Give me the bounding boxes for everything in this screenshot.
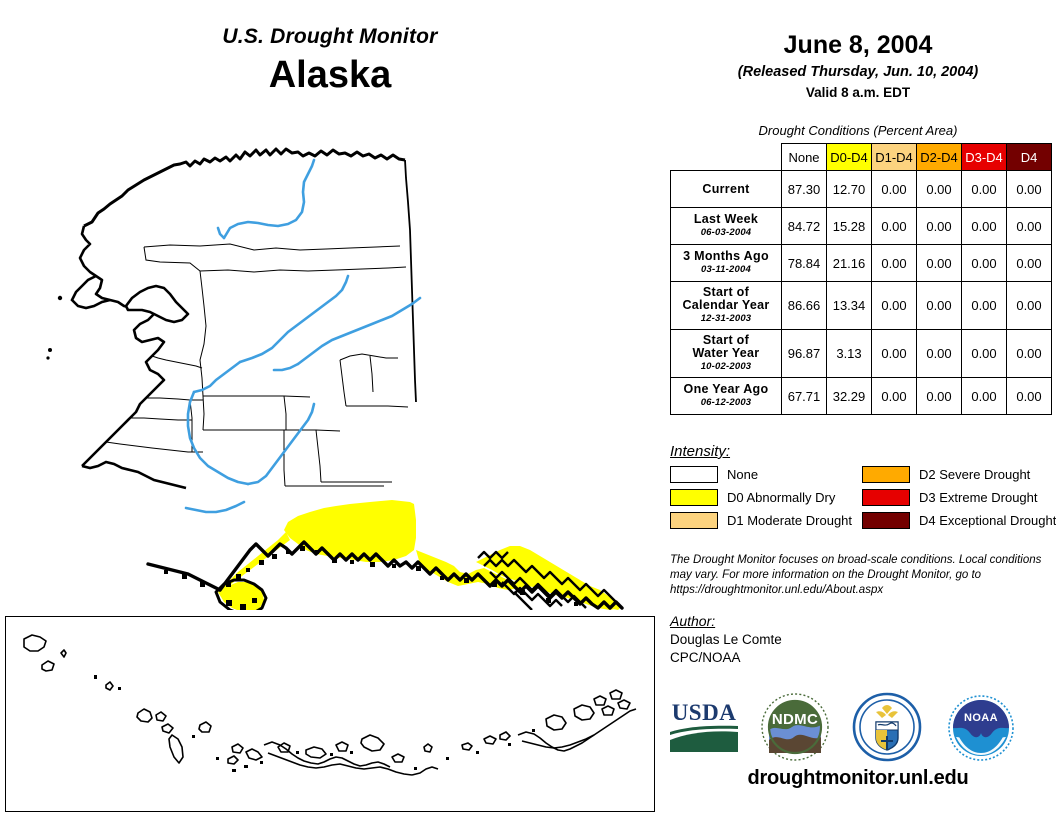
cell-value: 0.00 [917,245,962,282]
row-label: One Year Ago06-12-2003 [671,378,782,415]
cell-value: 12.70 [827,171,872,208]
table-row: Current87.3012.700.000.000.000.00 [671,171,1052,208]
table-row: One Year Ago06-12-200367.7132.290.000.00… [671,378,1052,415]
cell-value: 0.00 [962,245,1007,282]
row-label-date: 12-31-2003 [673,312,779,325]
cell-value: 0.00 [1007,171,1052,208]
row-label-line: Water Year [673,347,779,360]
cell-value: 0.00 [872,378,917,415]
legend-label: None [727,467,758,482]
legend-swatch [670,512,718,529]
row-label: Current [671,171,782,208]
region-title: Alaska [0,52,660,98]
column-header-d3-d4: D3-D4 [962,144,1007,171]
row-label-date: 06-03-2004 [673,226,779,239]
legend-label: D0 Abnormally Dry [727,490,835,505]
row-label: 3 Months Ago03-11-2004 [671,245,782,282]
row-label-line: Last Week [673,213,779,226]
row-label-date: 10-02-2003 [673,360,779,373]
author-heading: Author: [670,612,1050,631]
cell-value: 3.13 [827,330,872,378]
cell-value: 21.16 [827,245,872,282]
ndmc-logo[interactable]: NDMC [760,692,830,767]
cell-value: 0.00 [917,330,962,378]
cell-value: 32.29 [827,378,872,415]
row-label: Start ofWater Year10-02-2003 [671,330,782,378]
table-row: Start ofCalendar Year12-31-200386.6613.3… [671,282,1052,330]
row-label-line: Calendar Year [673,299,779,312]
cell-value: 0.00 [1007,378,1052,415]
cell-value: 0.00 [962,208,1007,245]
cell-value: 84.72 [782,208,827,245]
cell-value: 0.00 [872,208,917,245]
legend-item: D4 Exceptional Drought [862,512,1054,529]
svg-text:NDMC: NDMC [772,711,818,728]
legend-grid: NoneD2 Severe DroughtD0 Abnormally DryD3… [670,466,1056,529]
column-header-d1-d4: D1-D4 [872,144,917,171]
cell-value: 0.00 [1007,208,1052,245]
usda-seal-logo[interactable] [852,692,922,767]
cell-value: 0.00 [917,378,962,415]
svg-text:NOAA: NOAA [964,712,998,724]
report-date: June 8, 2004 [660,30,1056,60]
aleutian-islands-inset-map [5,616,655,812]
cell-value: 86.66 [782,282,827,330]
map-title-block: U.S. Drought Monitor Alaska [0,24,660,98]
legend-swatch [670,466,718,483]
cell-value: 0.00 [1007,282,1052,330]
author-affiliation: CPC/NOAA [670,649,1050,667]
cell-value: 0.00 [872,330,917,378]
legend-label: D4 Exceptional Drought [919,513,1056,528]
row-label-date: 06-12-2003 [673,396,779,409]
table-row: 3 Months Ago03-11-200478.8421.160.000.00… [671,245,1052,282]
legend-item: D3 Extreme Drought [862,489,1054,506]
legend-item: D1 Moderate Drought [670,512,862,529]
disclaimer-text: The Drought Monitor focuses on broad-sca… [670,553,1050,598]
table-header-row: NoneD0-D4D1-D4D2-D4D3-D4D4 [671,144,1052,171]
table-corner-cell [671,144,782,171]
row-label-line: Current [673,183,779,196]
cell-value: 15.28 [827,208,872,245]
cell-value: 78.84 [782,245,827,282]
row-label-date: 03-11-2004 [673,263,779,276]
svg-text:USDA: USDA [672,700,737,725]
release-date: (Released Thursday, Jun. 10, 2004) [660,62,1056,82]
noaa-logo[interactable]: NOAA [946,693,1016,768]
row-label: Last Week06-03-2004 [671,208,782,245]
logo-row: USDA NDMC [660,692,1056,764]
alaska-mainland-map [40,130,660,610]
table-row: Last Week06-03-200484.7215.280.000.000.0… [671,208,1052,245]
cell-value: 0.00 [872,245,917,282]
cell-value: 0.00 [872,282,917,330]
legend-item: D2 Severe Drought [862,466,1054,483]
row-label-line: 3 Months Ago [673,250,779,263]
row-label-line: One Year Ago [673,383,779,396]
cell-value: 0.00 [962,282,1007,330]
table-body: Current87.3012.700.000.000.000.00Last We… [671,171,1052,415]
cell-value: 0.00 [1007,330,1052,378]
legend-label: D3 Extreme Drought [919,490,1038,505]
cell-value: 0.00 [962,330,1007,378]
cell-value: 0.00 [1007,245,1052,282]
column-header-d0-d4: D0-D4 [827,144,872,171]
legend-swatch [862,489,910,506]
column-header-none: None [782,144,827,171]
legend-swatch [670,489,718,506]
cell-value: 0.00 [962,171,1007,208]
map-panel: U.S. Drought Monitor Alaska [0,0,660,816]
author-name: Douglas Le Comte [670,631,1050,649]
legend-item: None [670,466,862,483]
table-row: Start ofWater Year10-02-200396.873.130.0… [671,330,1052,378]
column-header-d4: D4 [1007,144,1052,171]
cell-value: 0.00 [917,282,962,330]
cell-value: 96.87 [782,330,827,378]
cell-value: 0.00 [962,378,1007,415]
column-header-d2-d4: D2-D4 [917,144,962,171]
site-url[interactable]: droughtmonitor.unl.edu [660,767,1056,790]
table-caption: Drought Conditions (Percent Area) [660,123,1056,138]
legend-swatch [862,512,910,529]
cell-value: 0.00 [917,208,962,245]
intensity-heading: Intensity: [670,443,1056,460]
usda-logo[interactable]: USDA [668,696,740,759]
intensity-legend: Intensity: NoneD2 Severe DroughtD0 Abnor… [670,443,1056,529]
cell-value: 67.71 [782,378,827,415]
drought-monitor-title: U.S. Drought Monitor [0,24,660,50]
legend-swatch [862,466,910,483]
legend-label: D2 Severe Drought [919,467,1030,482]
cell-value: 0.00 [917,171,962,208]
cell-value: 13.34 [827,282,872,330]
date-block: June 8, 2004 (Released Thursday, Jun. 10… [660,30,1056,102]
author-section: Author: Douglas Le Comte CPC/NOAA [670,612,1050,667]
legend-label: D1 Moderate Drought [727,513,852,528]
legend-item: D0 Abnormally Dry [670,489,862,506]
right-panel: June 8, 2004 (Released Thursday, Jun. 10… [660,0,1056,816]
cell-value: 87.30 [782,171,827,208]
row-label: Start ofCalendar Year12-31-2003 [671,282,782,330]
valid-time: Valid 8 a.m. EDT [660,83,1056,102]
drought-conditions-table: NoneD0-D4D1-D4D2-D4D3-D4D4 Current87.301… [670,143,1052,415]
cell-value: 0.00 [872,171,917,208]
